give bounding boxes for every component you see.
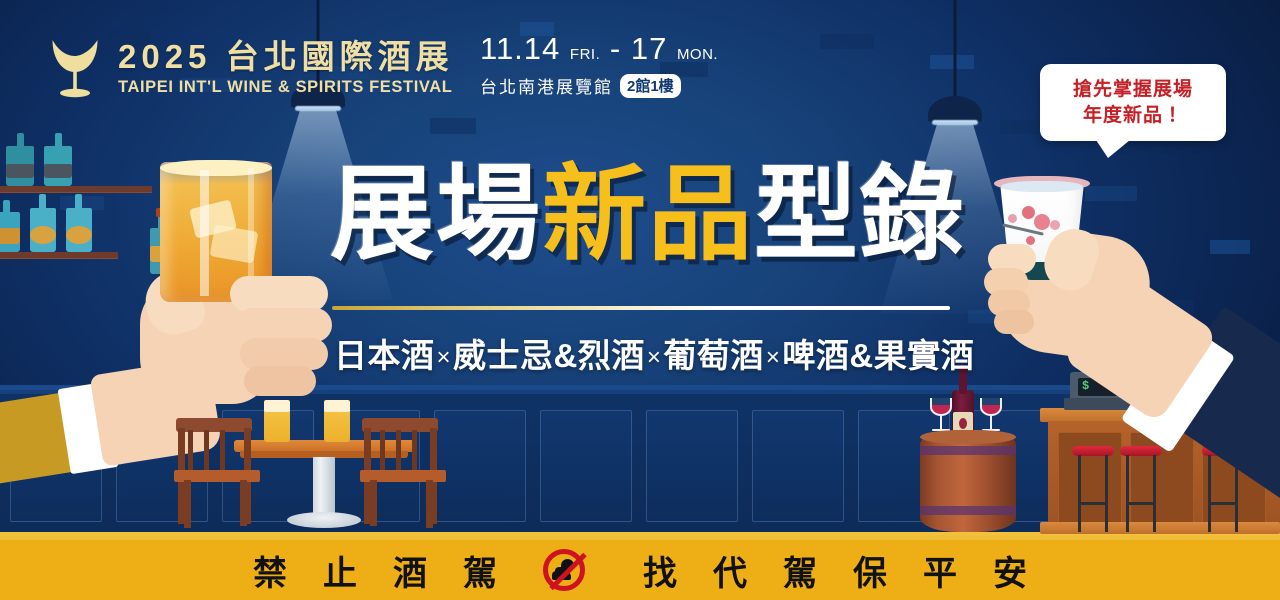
drink-driving-warning-bar: 禁止酒駕 找代駕保平安 [0, 540, 1280, 600]
date-start: 11.14 [480, 31, 560, 66]
callout-line-2: 年度新品！ [1050, 103, 1216, 129]
category-3: 葡萄酒 [663, 337, 764, 374]
warning-text-right: 找代駕保平安 [607, 546, 1063, 595]
date-end: 17 [631, 31, 667, 66]
hall-badge: 2館1樓 [620, 74, 681, 98]
event-date: 11.14 FRI. - 17 MON. [480, 33, 718, 64]
logo-title-zh: 2025 台北國際酒展 [118, 39, 454, 76]
page-title: 展場新品型錄 [330, 163, 970, 267]
warning-text-left: 禁止酒駕 [217, 546, 533, 595]
subtitle-sep-1: × [435, 344, 454, 371]
wine-festival-banner: $ [0, 0, 1280, 600]
crescent-moon-wine-glass-icon [46, 32, 104, 104]
category-4: 啤酒&果實酒 [782, 337, 974, 374]
logo-title-en: TAIPEI INT'L WINE & SPIRITS FESTIVAL [118, 78, 454, 97]
title-highlight: 新品 [542, 157, 754, 273]
event-venue: 台北南港展覽館 2館1樓 [480, 73, 718, 98]
title-divider [332, 306, 950, 310]
date-end-dow: MON. [677, 46, 718, 63]
promo-callout-bubble: 搶先掌握展場 年度新品！ [1040, 64, 1226, 141]
wooden-chair-left [170, 418, 262, 528]
date-start-dow: FRI. [570, 46, 600, 63]
title-part-1: 展場 [330, 157, 542, 273]
no-drink-driving-icon [543, 549, 585, 591]
subtitle-sep-2: × [645, 344, 664, 371]
subtitle-sep-3: × [764, 344, 783, 371]
bar-stool-1 [1072, 446, 1114, 532]
event-date-venue: 11.14 FRI. - 17 MON. 台北南港展覽館 2館1樓 [480, 33, 718, 98]
callout-line-1: 搶先掌握展場 [1050, 77, 1216, 103]
date-dash: - [610, 31, 621, 66]
wooden-chair-right [356, 418, 448, 528]
bar-stool-2 [1120, 446, 1162, 532]
venue-name: 台北南港展覽館 [480, 73, 613, 98]
category-2: 威士忌&烈酒 [453, 337, 645, 374]
category-1: 日本酒 [334, 337, 435, 374]
title-part-2: 型錄 [754, 157, 966, 273]
festival-logo: 2025 台北國際酒展 TAIPEI INT'L WINE & SPIRITS … [46, 32, 454, 104]
category-subtitle: 日本酒×威士忌&烈酒×葡萄酒×啤酒&果實酒 [334, 329, 974, 377]
